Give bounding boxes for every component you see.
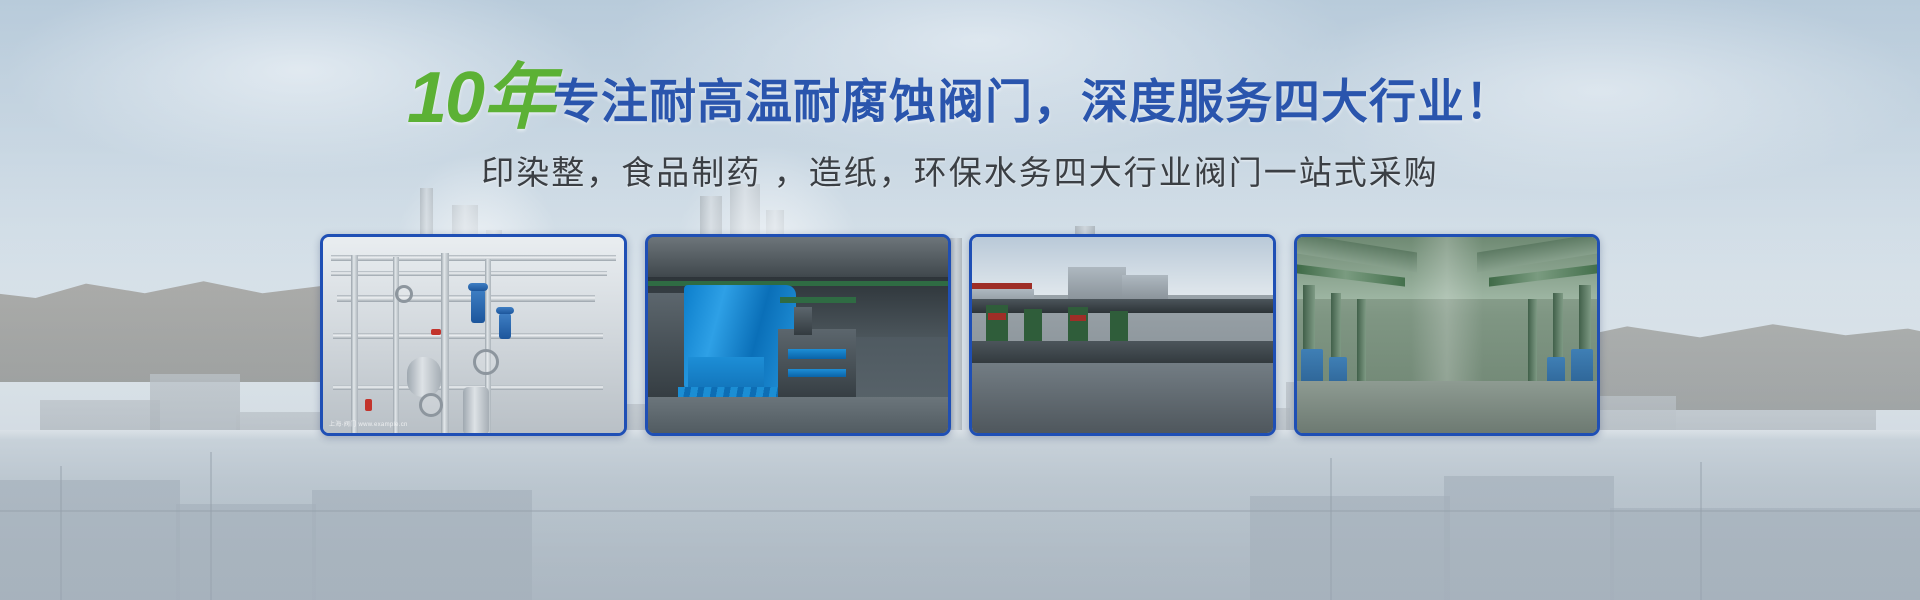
card-water-treatment[interactable] <box>1294 234 1601 436</box>
headline-years: 10年 <box>407 58 553 138</box>
headline-main: 专注耐高温耐腐蚀阀门，深度服务四大行业！ <box>553 75 1513 130</box>
card-image-water-treatment <box>1297 237 1598 433</box>
card-paper-mill[interactable] <box>969 234 1276 436</box>
industry-photo-cards: 上海·阀门 www.example.cn <box>320 234 1600 436</box>
hero-banner: 10年专注耐高温耐腐蚀阀门，深度服务四大行业！ 印染整，食品制药 ，造纸，环保水… <box>0 0 1920 600</box>
card-watermark: 上海·阀门 www.example.cn <box>329 419 408 428</box>
card-textile-dyeing[interactable] <box>645 234 952 436</box>
card-image-paper-mill <box>972 237 1273 433</box>
card-pharma-chemical[interactable]: 上海·阀门 www.example.cn <box>320 234 627 436</box>
card-image-pharma-chemical: 上海·阀门 www.example.cn <box>323 237 624 433</box>
headline: 10年专注耐高温耐腐蚀阀门，深度服务四大行业！ <box>0 62 1920 134</box>
subheadline: 印染整，食品制药 ，造纸，环保水务四大行业阀门一站式采购 <box>0 146 1920 194</box>
card-image-textile-dyeing <box>648 237 949 433</box>
